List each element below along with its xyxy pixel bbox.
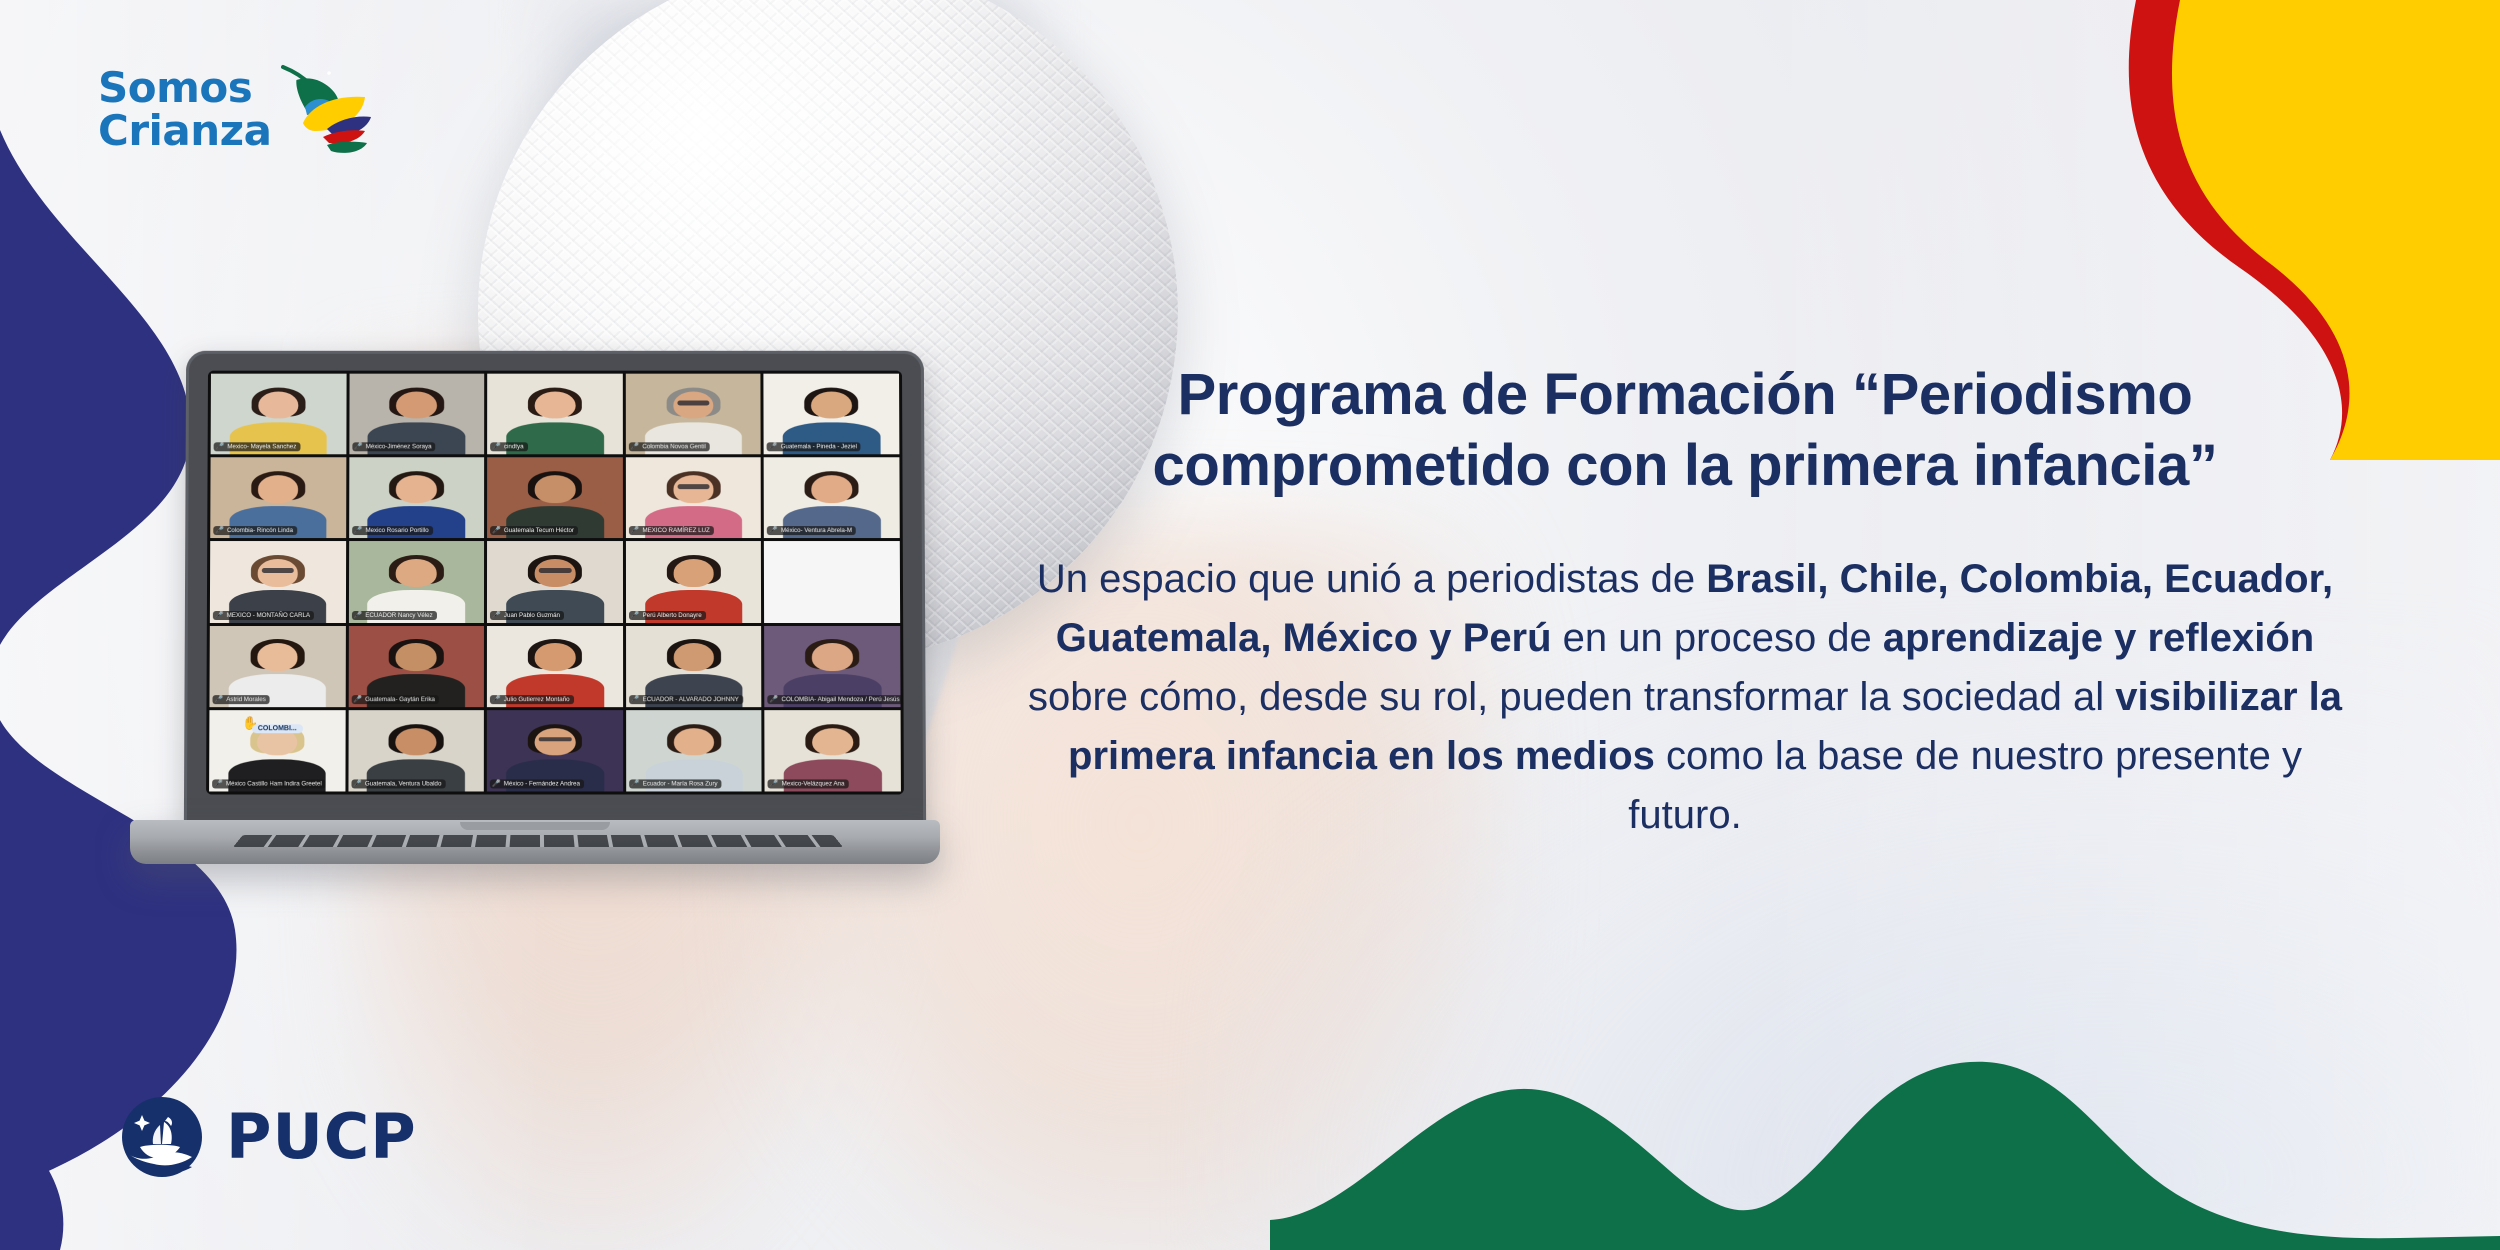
- text-content: Programa de Formación “Periodismo compro…: [1020, 360, 2350, 845]
- participant-name-text: Mexico-Velázquez Ana: [782, 780, 845, 787]
- participant-name-label: 🎤Guatemala - Pineda - Jeziel: [767, 443, 861, 452]
- participant-tile[interactable]: 🎤Mexico-Velázquez Ana: [765, 710, 901, 792]
- laptop-screen: 🎤Mexico- Mayela Sanchez🎤México-Jiménez S…: [206, 371, 904, 795]
- participant-name-label: 🎤Colombia- Rincón Linda: [213, 526, 297, 535]
- participant-name-text: ECUADOR Nancy Vélez: [365, 612, 432, 619]
- microphone-muted-icon: 🎤: [353, 696, 362, 703]
- participant-tile[interactable]: 🎤ECUADOR - ALVARADO JOHNNY: [626, 626, 762, 707]
- participant-tile[interactable]: 🎤Colombia- Rincón Linda: [210, 457, 346, 538]
- microphone-muted-icon: 🎤: [769, 527, 778, 534]
- participant-video: [764, 541, 900, 622]
- decorative-navy-corner: [0, 1110, 120, 1250]
- participant-tile[interactable]: 🎤MEXICO - MONTAÑO CARLA: [210, 541, 346, 622]
- microphone-muted-icon: 🎤: [631, 780, 640, 787]
- poster-canvas: Somos Crianza 🎤Mexico- Mayela Sanchez🎤Mé…: [0, 0, 2500, 1250]
- page-title: Programa de Formación “Periodismo compro…: [1020, 360, 2350, 502]
- participant-tile[interactable]: 🎤México-Jiménez Soraya: [349, 374, 484, 455]
- somos-crianza-line1: Somos: [98, 67, 271, 110]
- participant-tile[interactable]: 🎤MEXICO RAMÍREZ LUZ: [626, 457, 762, 538]
- participant-tile[interactable]: 🎤Colombia Novoa Gentil: [626, 374, 761, 455]
- participant-name-text: Astrid Morales: [226, 696, 266, 703]
- microphone-muted-icon: 🎤: [354, 527, 363, 534]
- microphone-muted-icon: 🎤: [354, 444, 363, 451]
- microphone-muted-icon: 🎤: [214, 696, 223, 703]
- participant-name-label: 🎤COLOMBIA- Abigail Mendoza / Perú Jesús: [768, 695, 901, 704]
- participant-tile[interactable]: 🎤Guatemala - Pineda - Jeziel: [764, 374, 900, 455]
- participant-tile[interactable]: [764, 541, 900, 622]
- microphone-muted-icon: 🎤: [631, 612, 640, 619]
- participant-tile[interactable]: 🎤Guatemala, Ventura Ubaldo: [348, 710, 484, 792]
- participant-name-text: ECUADOR - ALVARADO JOHNNY: [643, 696, 739, 703]
- microphone-muted-icon: 🎤: [492, 696, 501, 703]
- participant-name-label: 🎤Perú Alberto Donayre: [629, 611, 706, 620]
- participant-name-label: 🎤Mexico Rosario Portillo: [352, 526, 433, 535]
- microphone-muted-icon: 🎤: [770, 780, 779, 787]
- participant-name-label: 🎤ECUADOR Nancy Vélez: [352, 611, 437, 620]
- participant-name-text: Guatemala, Ventura Ubaldo: [365, 780, 442, 787]
- participant-reaction-badge: COLOMBI...: [252, 725, 303, 734]
- participant-name-label: 🎤ECUADOR - ALVARADO JOHNNY: [629, 695, 743, 704]
- participant-name-text: México Castillo Ham Indira Greetel: [226, 780, 322, 787]
- microphone-muted-icon: 🎤: [215, 612, 224, 619]
- participant-name-label: 🎤MEXICO - MONTAÑO CARLA: [213, 611, 314, 620]
- microphone-muted-icon: 🎤: [353, 780, 362, 787]
- participant-name-label: 🎤Guatemala, Ventura Ubaldo: [351, 779, 445, 788]
- participant-tile[interactable]: 🎤México - Fernández Andrea: [487, 710, 623, 792]
- participant-tile[interactable]: 🎤ECUADOR Nancy Vélez: [349, 541, 485, 622]
- paragraph-segment-3: aprendizaje y reflexión: [1883, 616, 2314, 660]
- microphone-muted-icon: 🎤: [216, 444, 225, 451]
- microphone-muted-icon: 🎤: [492, 780, 501, 787]
- participant-tile[interactable]: 🎤Julio Gutierrez Montaño: [487, 626, 623, 707]
- participant-name-text: Mexico Rosario Portillo: [365, 527, 428, 534]
- participant-name-text: México - Fernández Andrea: [504, 780, 580, 787]
- laptop-computer: 🎤Mexico- Mayela Sanchez🎤México-Jiménez S…: [130, 350, 940, 950]
- participant-name-text: Guatemala- Gaytán Erika: [365, 696, 435, 703]
- pucp-logo[interactable]: PUCP: [120, 1095, 417, 1179]
- participant-name-label: 🎤Colombia Novoa Gentil: [629, 443, 710, 452]
- paragraph-segment-2: en un proceso de: [1552, 616, 1883, 660]
- microphone-muted-icon: 🎤: [492, 444, 501, 451]
- participant-tile[interactable]: 🎤México- Ventura Abrela-M: [764, 457, 900, 538]
- paragraph-segment-6: como la base de nuestro presente y futur…: [1628, 734, 2302, 837]
- microphone-muted-icon: 🎤: [631, 696, 640, 703]
- participant-name-text: México-Jiménez Soraya: [366, 444, 432, 451]
- participant-name-text: MEXICO RAMÍREZ LUZ: [642, 527, 709, 534]
- hummingbird-icon: [281, 49, 373, 159]
- laptop-lid: 🎤Mexico- Mayela Sanchez🎤México-Jiménez S…: [184, 351, 926, 831]
- participant-tile[interactable]: 🎤Mexico Rosario Portillo: [349, 457, 485, 538]
- microphone-muted-icon: 🎤: [769, 444, 778, 451]
- participant-name-label: 🎤Astrid Morales: [212, 695, 269, 704]
- participant-name-label: 🎤México - Fernández Andrea: [490, 779, 584, 788]
- participant-tile[interactable]: 🎤Ecuador - María Rosa Zury: [626, 710, 762, 792]
- paragraph-segment-4: sobre cómo, desde su rol, pueden transfo…: [1028, 675, 2115, 719]
- participant-name-text: Julio Gutierrez Montaño: [504, 696, 570, 703]
- participant-name-label: 🎤Guatemala Tecum Héctor: [490, 526, 578, 535]
- participant-name-text: Ecuador - María Rosa Zury: [643, 780, 718, 787]
- participant-name-text: Perú Alberto Donayre: [643, 612, 702, 619]
- somos-crianza-line2: Crianza: [98, 110, 271, 153]
- participant-name-text: Mexico- Mayela Sanchez: [227, 444, 296, 451]
- zoom-meeting-grid[interactable]: 🎤Mexico- Mayela Sanchez🎤México-Jiménez S…: [206, 371, 904, 795]
- participant-tile[interactable]: 🎤Astrid Morales: [209, 626, 345, 707]
- participant-tile[interactable]: 🎤COLOMBIA- Abigail Mendoza / Perú Jesús: [764, 626, 900, 707]
- participant-tile[interactable]: 🎤cindtya: [487, 374, 622, 455]
- participant-tile[interactable]: 🎤Juan Pablo Guzmán: [487, 541, 623, 622]
- microphone-muted-icon: 🎤: [354, 612, 363, 619]
- participant-name-text: Guatemala - Pineda - Jeziel: [781, 444, 857, 451]
- participant-name-label: 🎤Ecuador - María Rosa Zury: [629, 779, 722, 788]
- participant-name-text: cindtya: [504, 444, 524, 451]
- participant-name-text: Juan Pablo Guzmán: [504, 612, 560, 619]
- participant-tile[interactable]: 🎤Guatemala- Gaytán Erika: [348, 626, 484, 707]
- decorative-green-wave: [1270, 1040, 2500, 1250]
- participant-name-label: 🎤México-Jiménez Soraya: [352, 443, 436, 452]
- participant-name-label: 🎤Guatemala- Gaytán Erika: [351, 695, 439, 704]
- somos-crianza-logo[interactable]: Somos Crianza: [98, 50, 388, 170]
- participant-name-label: 🎤Mexico-Velázquez Ana: [768, 779, 849, 788]
- participant-name-text: MEXICO - MONTAÑO CARLA: [227, 612, 310, 619]
- microphone-muted-icon: 🎤: [214, 780, 223, 787]
- participant-name-label: 🎤Mexico- Mayela Sanchez: [214, 443, 301, 452]
- participant-name-label: 🎤Juan Pablo Guzmán: [490, 611, 564, 620]
- participant-name-text: Guatemala Tecum Héctor: [504, 527, 574, 534]
- participant-name-text: COLOMBIA- Abigail Mendoza / Perú Jesús: [781, 696, 899, 703]
- microphone-muted-icon: 🎤: [215, 527, 224, 534]
- participant-name-label: 🎤MEXICO RAMÍREZ LUZ: [629, 526, 714, 535]
- microphone-muted-icon: 🎤: [770, 696, 779, 703]
- paragraph-segment-0: Un espacio que unió a periodistas de: [1037, 557, 1706, 601]
- participant-tile[interactable]: 🎤Perú Alberto Donayre: [626, 541, 762, 622]
- microphone-muted-icon: 🎤: [492, 612, 501, 619]
- pucp-wordmark: PUCP: [226, 1106, 417, 1168]
- participant-name-text: México- Ventura Abrela-M: [781, 527, 852, 534]
- participant-tile[interactable]: ✋COLOMBI...🎤México Castillo Ham Indira G…: [209, 710, 345, 792]
- participant-name-label: 🎤México- Ventura Abrela-M: [767, 526, 856, 535]
- participant-tile[interactable]: 🎤Guatemala Tecum Héctor: [487, 457, 623, 538]
- microphone-muted-icon: 🎤: [631, 444, 640, 451]
- somos-crianza-wordmark: Somos Crianza: [98, 67, 271, 153]
- participant-name-text: Colombia Novoa Gentil: [642, 444, 706, 451]
- laptop-keyboard: [233, 835, 843, 847]
- participant-name-text: Colombia- Rincón Linda: [227, 527, 293, 534]
- participant-name-label: 🎤cindtya: [490, 443, 527, 452]
- microphone-muted-icon: 🎤: [492, 527, 501, 534]
- description-paragraph: Un espacio que unió a periodistas de Bra…: [1020, 550, 2350, 846]
- pucp-ship-seal-icon: [120, 1095, 204, 1179]
- microphone-muted-icon: 🎤: [631, 527, 640, 534]
- participant-name-label: 🎤México Castillo Ham Indira Greetel: [212, 779, 326, 788]
- participant-tile[interactable]: 🎤Mexico- Mayela Sanchez: [211, 374, 347, 455]
- participant-name-label: 🎤Julio Gutierrez Montaño: [490, 695, 574, 704]
